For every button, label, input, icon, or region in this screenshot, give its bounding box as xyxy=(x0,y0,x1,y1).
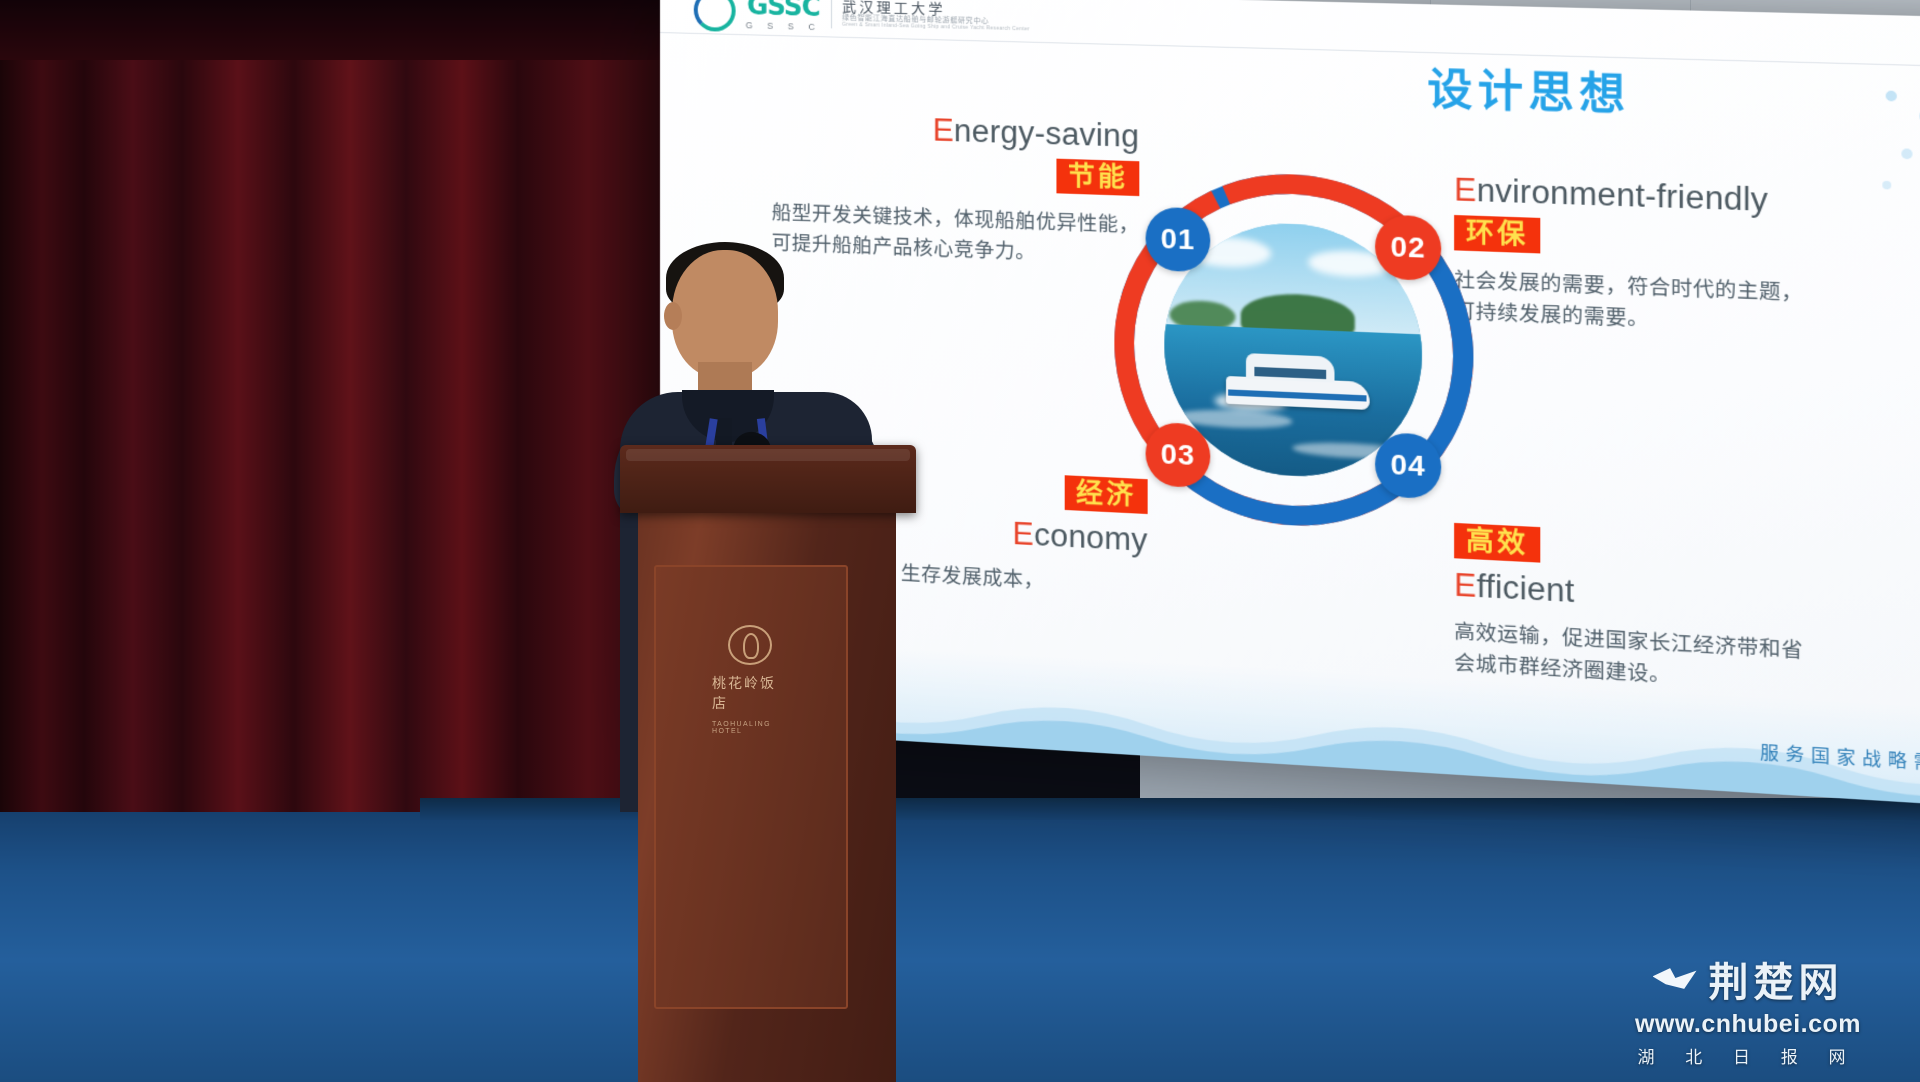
podium-hotel-emblem: 桃花岭饭店 TAOHUALING HOTEL xyxy=(712,625,788,735)
gssc-logo: GSSC G S S C xyxy=(746,0,821,32)
slide-logo-group: GSSC G S S C 武汉理工大学 绿色智能江海直达船舶与邮轮游艇研究中心 … xyxy=(660,0,1030,40)
watermark-subtitle: 湖 北 日 报 网 xyxy=(1598,1043,1898,1068)
podium: 桃花岭饭店 TAOHUALING HOTEL xyxy=(620,445,916,1082)
watermark-url: www.cnhubei.com xyxy=(1598,1010,1898,1039)
stage-curtain-valance xyxy=(0,0,700,60)
hotel-name-cn: 桃花岭饭店 xyxy=(712,673,788,713)
quadrant-english-title: Environment-friendly xyxy=(1454,171,1915,224)
gssc-subtext: G S S C xyxy=(746,21,821,32)
quadrant-english-title: Energy-saving xyxy=(772,107,1140,155)
bird-logo-icon xyxy=(1653,966,1697,992)
quadrant-environment-friendly: Environment-friendly 环保 社会发展的需要，符合时代的主题，… xyxy=(1454,171,1915,346)
watermark-brand-cn: 荆楚网 xyxy=(1709,950,1844,1008)
podium-top xyxy=(620,445,916,513)
gssc-wordmark: GSSC xyxy=(747,0,820,21)
hotel-name-en: TAOHUALING HOTEL xyxy=(712,721,788,735)
flower-icon xyxy=(728,625,772,665)
speaker-head xyxy=(672,250,778,378)
auditorium-stage: GSSC G S S C 武汉理工大学 绿色智能江海直达船舶与邮轮游艇研究中心 … xyxy=(0,0,1920,1082)
speaker-ear xyxy=(664,302,682,330)
center-ring-diagram: 01 02 03 04 xyxy=(1114,169,1473,535)
watermark: 荆楚网 www.cnhubei.com 湖 北 日 报 网 xyxy=(1598,950,1898,1068)
quadrant-body-text: 社会发展的需要，符合时代的主题，可持续发展的需要。 xyxy=(1454,265,1814,342)
quadrant-efficient: 高效 Efficient 高效运输，促进国家长江经济带和省会城市群经济圈建设。 xyxy=(1454,523,1915,706)
university-block: 武汉理工大学 绿色智能江海直达船舶与邮轮游艇研究中心 Green & Smart… xyxy=(842,0,1029,33)
slide-title: 设计思想 xyxy=(1427,54,1630,123)
podium-top-highlight xyxy=(626,449,910,461)
vessel-illustration xyxy=(1226,347,1370,419)
gssc-circle-icon xyxy=(694,0,736,32)
watermark-brand-row: 荆楚网 xyxy=(1598,950,1898,1008)
logo-divider xyxy=(831,0,832,28)
quadrant-energy-saving: Energy-saving 节能 船型开发关键技术，体现船舶优异性能，可提升船舶… xyxy=(772,107,1140,272)
